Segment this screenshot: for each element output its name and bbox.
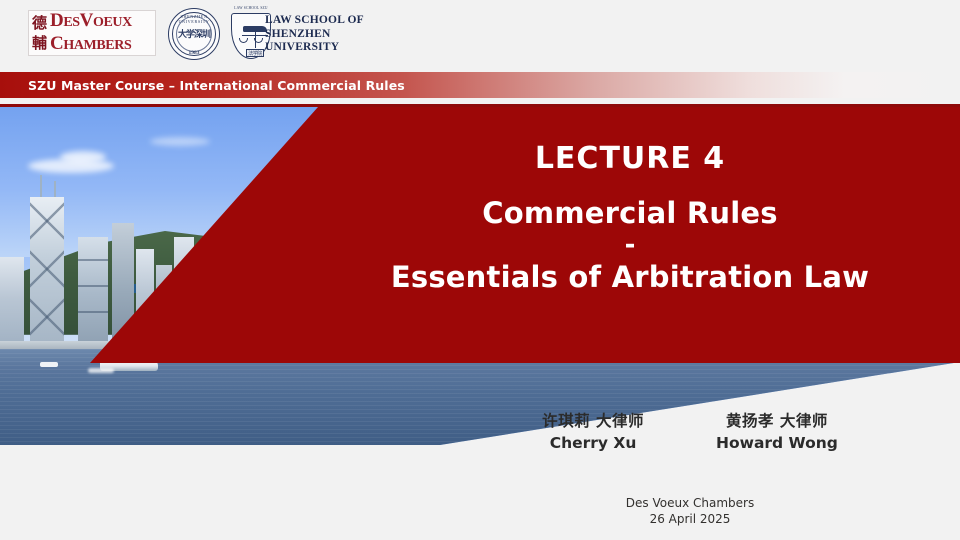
photo-small-boat — [40, 362, 58, 367]
speaker-name-english: Cherry Xu — [542, 432, 644, 454]
scales-pan-left-icon — [239, 38, 248, 43]
dvc-wordmark-line-2: CHAMBERS — [50, 33, 132, 56]
photo-bank-of-china-tower — [30, 197, 64, 349]
crest-base-characters: 法学院 — [247, 50, 263, 56]
dvc-smallcaps-es: ES — [63, 15, 79, 30]
title-line-2: Essentials of Arbitration Law — [300, 256, 960, 298]
speaker-name-chinese: 黄扬孝 大律师 — [716, 410, 838, 432]
footer-date: 26 April 2025 — [440, 511, 940, 527]
photo-building — [0, 257, 24, 349]
title-block: LECTURE 4 Commercial Rules - Essentials … — [300, 140, 960, 298]
presentation-slide: 德 輔 DESVOEUX CHAMBERS SHENZHEN UNIVERSIT… — [0, 0, 960, 540]
photo-cloud — [60, 151, 106, 163]
dvc-chinese-char-1: 德 — [32, 13, 46, 33]
law-school-name-line-2: SHENZHEN — [265, 28, 364, 42]
dvc-chinese-char-2: 輔 — [32, 33, 46, 53]
shenzhen-university-seal-icon: SHENZHEN UNIVERSITY 大学深圳 1983 — [168, 8, 220, 60]
law-school-name: LAW SCHOOL OF SHENZHEN UNIVERSITY — [265, 14, 364, 55]
speaker-name-chinese: 许琪莉 大律师 — [542, 410, 644, 432]
slide-footer: Des Voeux Chambers 26 April 2025 — [440, 495, 940, 527]
dvc-chinese-mark: 德 輔 — [32, 13, 46, 53]
speaker-name-english: Howard Wong — [716, 432, 838, 454]
crest-top-text: LAW SCHOOL SZU — [228, 6, 274, 10]
course-banner-text: SZU Master Course – International Commer… — [28, 74, 405, 96]
des-voeux-chambers-logo: 德 輔 DESVOEUX CHAMBERS — [28, 10, 156, 56]
law-school-name-line-1: LAW SCHOOL OF — [265, 14, 364, 28]
speaker-cherry-xu: 许琪莉 大律师 Cherry Xu — [542, 410, 644, 454]
seal-year: 1983 — [169, 50, 219, 56]
title-line-1: Commercial Rules — [300, 192, 960, 234]
dvc-smallcaps-oeux: OEUX — [93, 15, 132, 30]
title-dash: - — [300, 234, 960, 256]
photo-hsbc-building — [78, 237, 108, 349]
speaker-howard-wong: 黄扬孝 大律师 Howard Wong — [716, 410, 838, 454]
logo-bar: 德 輔 DESVOEUX CHAMBERS SHENZHEN UNIVERSIT… — [0, 0, 960, 68]
dvc-wordmark: DESVOEUX CHAMBERS — [50, 10, 132, 56]
lecture-number: LECTURE 4 — [300, 140, 960, 178]
law-school-name-line-3: UNIVERSITY — [265, 41, 364, 55]
photo-antenna — [40, 175, 42, 197]
crest-base-plate: 法学院 — [246, 49, 264, 57]
speaker-list: 许琪莉 大律师 Cherry Xu 黄扬孝 大律师 Howard Wong — [440, 410, 940, 454]
banner-bottom-rule — [0, 104, 960, 107]
dvc-wordmark-line-1: DESVOEUX — [50, 10, 132, 33]
photo-cloud — [150, 137, 210, 146]
photo-antenna — [54, 181, 56, 197]
dvc-smallcaps-hambers: HAMBERS — [63, 38, 131, 53]
scales-pan-right-icon — [254, 38, 263, 43]
footer-organization: Des Voeux Chambers — [440, 495, 940, 511]
